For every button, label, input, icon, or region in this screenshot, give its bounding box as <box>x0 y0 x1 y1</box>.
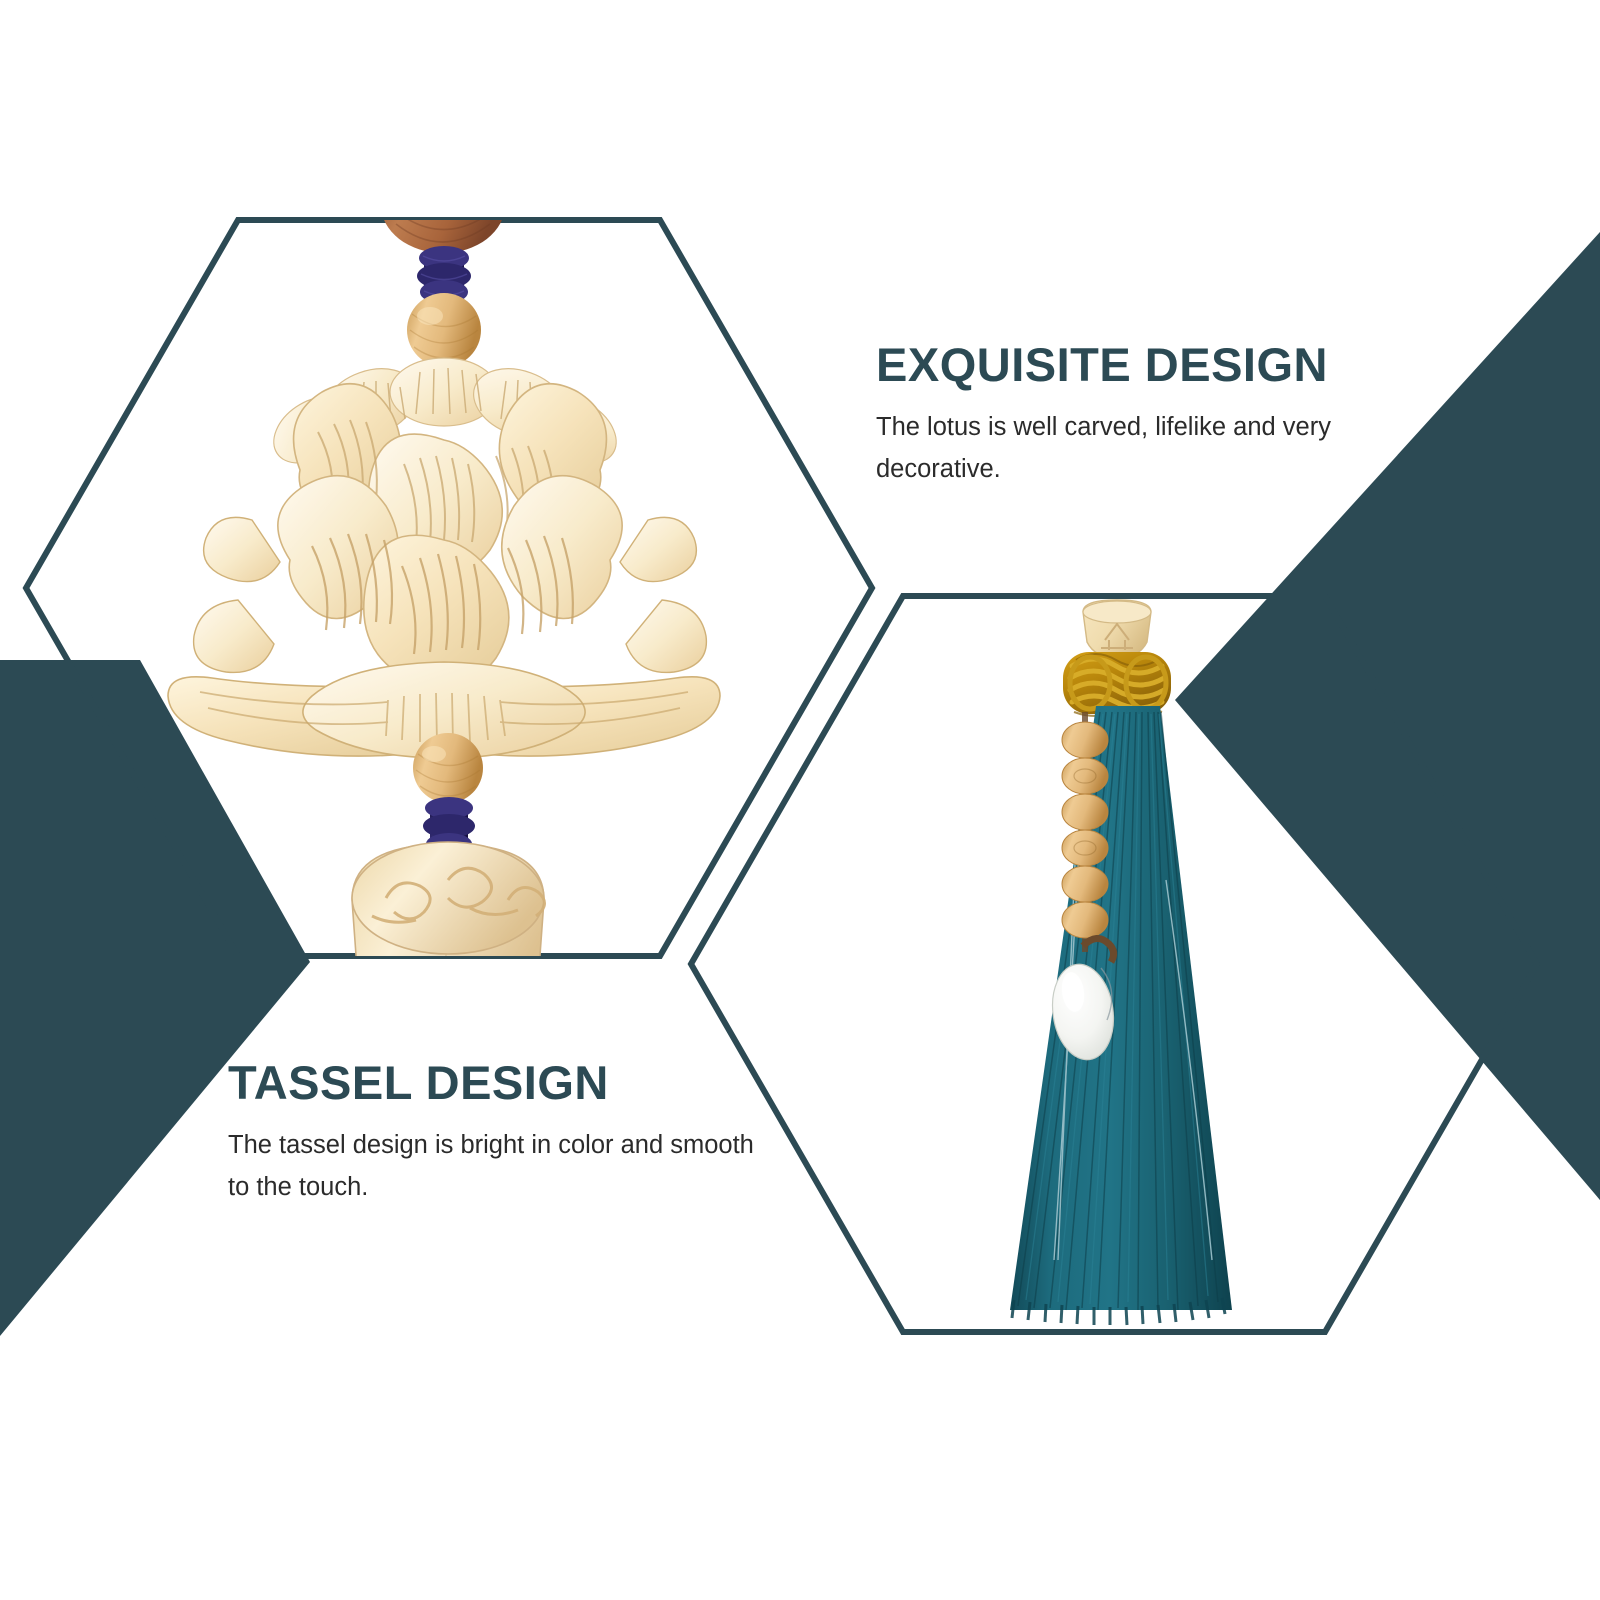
headline-exquisite-design: EXQUISITE DESIGN <box>876 340 1436 389</box>
feature-block-exquisite: EXQUISITE DESIGN The lotus is well carve… <box>876 340 1436 490</box>
body-exquisite-design: The lotus is well carved, lifelike and v… <box>876 407 1436 490</box>
artwork-layer <box>0 0 1600 1600</box>
body-tassel-design: The tassel design is bright in color and… <box>228 1125 768 1208</box>
carved-wood-cap <box>1083 600 1151 658</box>
headline-tassel-design: TASSEL DESIGN <box>228 1058 768 1107</box>
feature-block-tassel: TASSEL DESIGN The tassel design is brigh… <box>228 1058 768 1208</box>
wood-bead-upper <box>407 293 481 367</box>
wood-bead-lower <box>413 733 483 803</box>
infographic-canvas: EXQUISITE DESIGN The lotus is well carve… <box>0 0 1600 1600</box>
